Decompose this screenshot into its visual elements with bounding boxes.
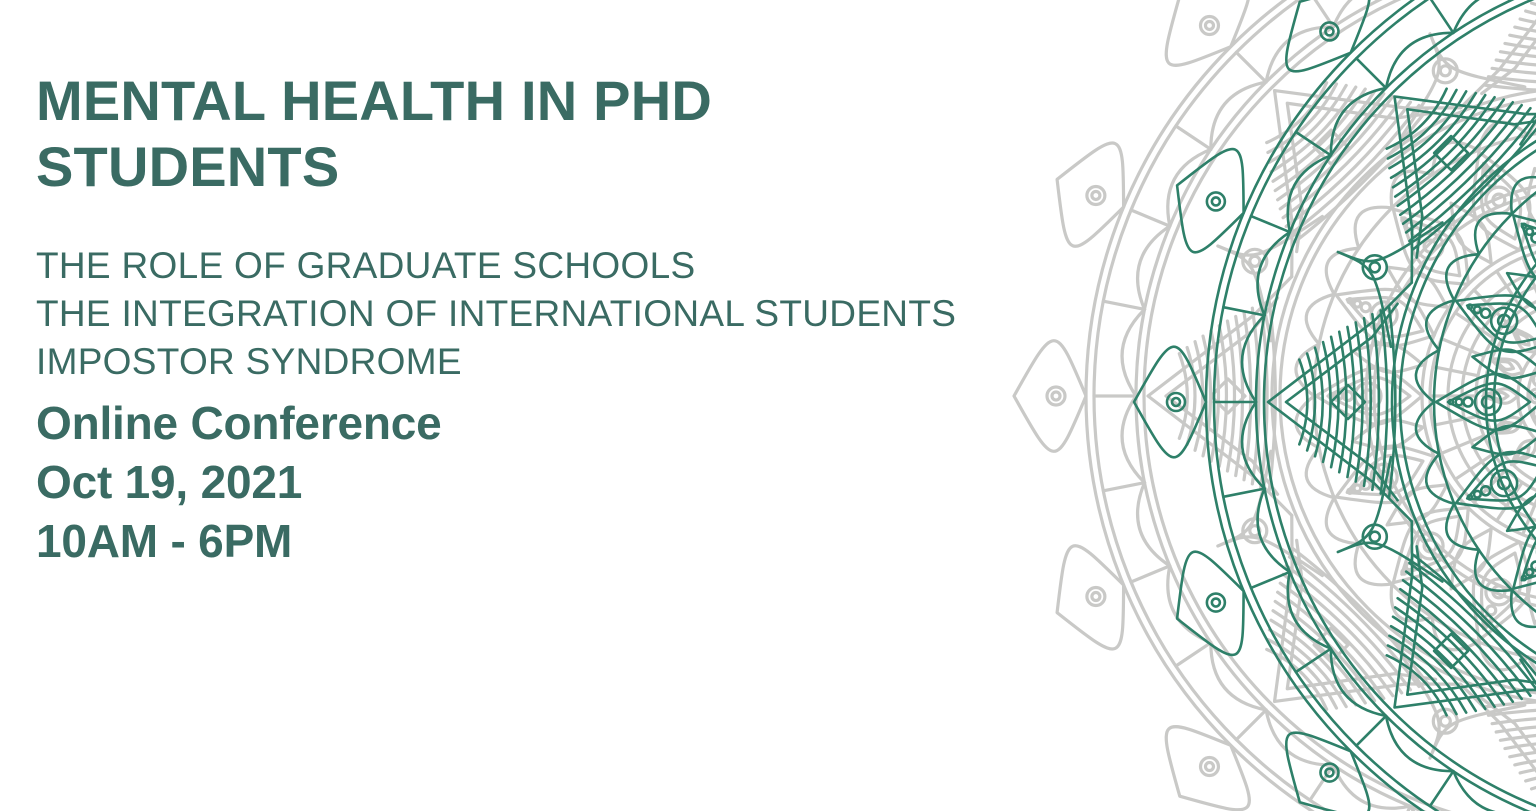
topic-item-1: THE ROLE OF GRADUATE SCHOOLS [36,242,1046,290]
topic-item-3: IMPOSTOR SYNDROME [36,338,1046,386]
mandala-layer-teal [1134,0,1536,811]
event-details-list: Online Conference Oct 19, 2021 10AM - 6P… [36,386,1046,571]
page-title: MENTAL HEALTH IN PHD STUDENTS [36,0,1046,200]
poster-text-block: MENTAL HEALTH IN PHD STUDENTS THE ROLE O… [36,0,1046,571]
mandala-layer-gray [1014,0,1536,811]
conference-poster: MENTAL HEALTH IN PHD STUDENTS THE ROLE O… [0,0,1536,811]
event-time: 10AM - 6PM [36,512,1046,571]
topics-list: THE ROLE OF GRADUATE SCHOOLS THE INTEGRA… [36,200,1046,386]
event-format: Online Conference [36,394,1046,453]
event-date: Oct 19, 2021 [36,453,1046,512]
topic-item-2: THE INTEGRATION OF INTERNATIONAL STUDENT… [36,290,1046,338]
mandala-ornament [976,0,1536,811]
mandala-svg [976,0,1536,811]
